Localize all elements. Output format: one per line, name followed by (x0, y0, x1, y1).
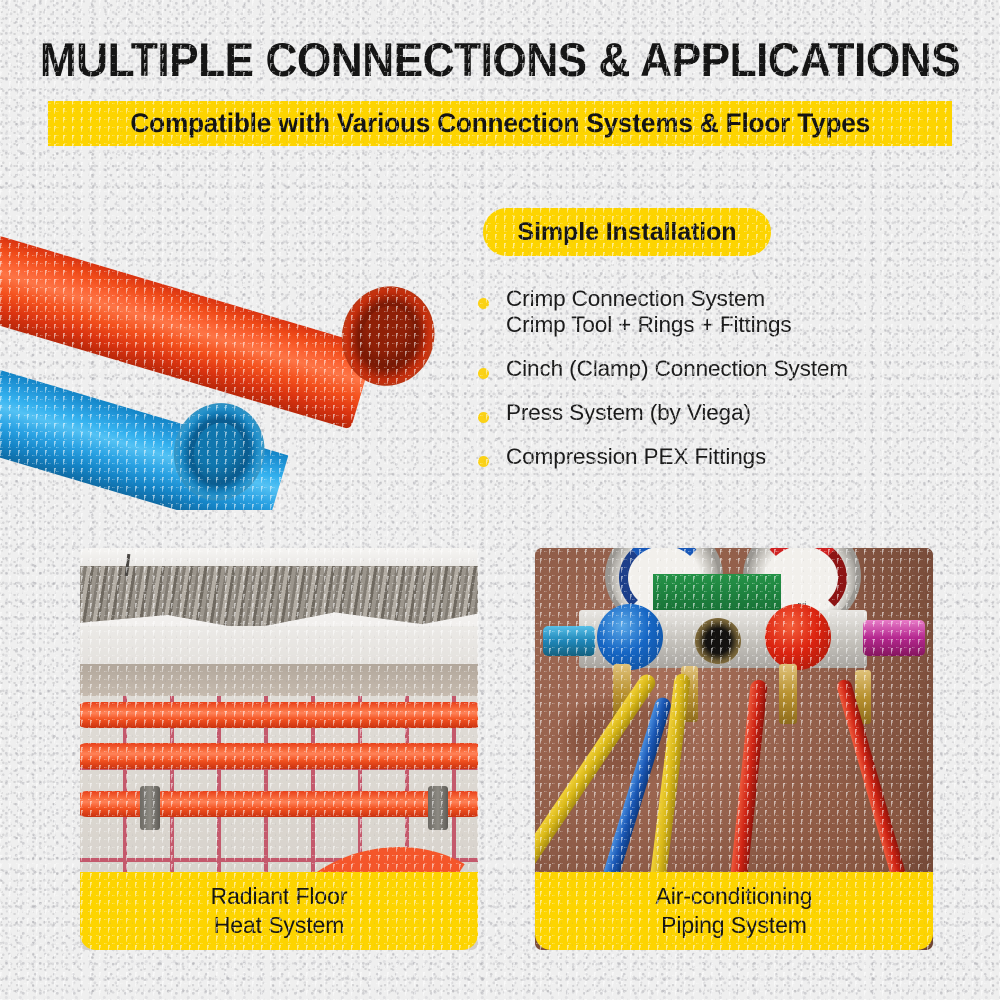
feature-text: Press System (by Viega) (506, 400, 751, 426)
list-item: Compression PEX Fittings (478, 444, 948, 470)
card-caption-radiant-floor: Radiant Floor Heat System (80, 872, 478, 950)
simple-installation-label: Simple Installation (518, 218, 737, 247)
application-card-air-conditioning: psi bar psi bar (535, 548, 933, 950)
application-card-radiant-floor: Radiant Floor Heat System (80, 548, 478, 950)
caption-line-2: Piping System (661, 911, 807, 940)
pex-pipe (80, 743, 478, 769)
simple-installation-badge: Simple Installation (483, 208, 771, 256)
subtitle-banner: Compatible with Various Connection Syste… (48, 101, 952, 146)
caption-line-1: Air-conditioning (656, 882, 813, 911)
bullet-dot-icon (478, 298, 489, 309)
blue-valve-knob (597, 604, 663, 670)
list-item: Cinch (Clamp) Connection System (478, 356, 948, 382)
floor-band (80, 664, 478, 700)
list-item: Press System (by Viega) (478, 400, 948, 426)
brass-fitting (779, 664, 797, 724)
bullet-dot-icon (478, 412, 489, 423)
pex-pipe (80, 702, 478, 728)
cyan-quick-coupler (543, 626, 595, 656)
feature-text: Cinch (Clamp) Connection System (506, 356, 848, 382)
feature-text: Crimp Connection System Crimp Tool + Rin… (506, 286, 792, 338)
list-item: Crimp Connection System Crimp Tool + Rin… (478, 286, 948, 338)
pex-tubing-photo (0, 170, 460, 510)
magenta-quick-coupler (863, 620, 925, 656)
center-port (695, 618, 741, 664)
caption-line-2: Heat System (214, 911, 345, 940)
page-title: MULTIPLE CONNECTIONS & APPLICATIONS (30, 36, 970, 83)
bullet-dot-icon (478, 368, 489, 379)
card-caption-air-conditioning: Air-conditioning Piping System (535, 872, 933, 950)
feature-line-secondary: Crimp Tool + Rings + Fittings (506, 312, 792, 338)
pipe-clip (428, 786, 448, 830)
bullet-dot-icon (478, 456, 489, 467)
caption-line-1: Radiant Floor (211, 882, 348, 911)
connection-systems-list: Crimp Connection System Crimp Tool + Rin… (478, 286, 948, 488)
red-valve-knob (765, 604, 831, 670)
feature-text: Compression PEX Fittings (506, 444, 766, 470)
feature-line-primary: Crimp Connection System (506, 286, 765, 311)
subtitle-text: Compatible with Various Connection Syste… (130, 108, 870, 139)
combed-mortar-layer (80, 566, 478, 632)
infographic-page: MULTIPLE CONNECTIONS & APPLICATIONS Comp… (0, 0, 1000, 1000)
pipe-clip (140, 786, 160, 830)
